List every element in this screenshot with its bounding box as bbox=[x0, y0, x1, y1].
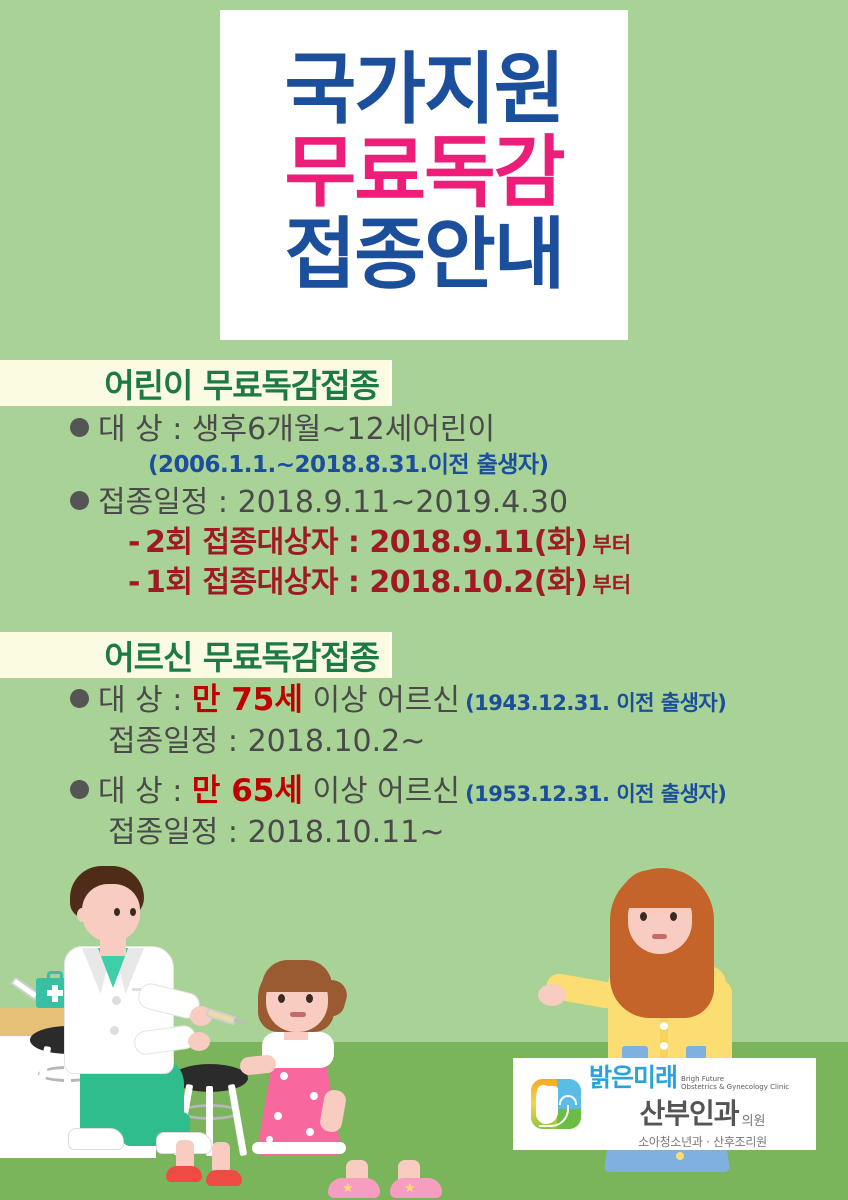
elderly-target-suffix-1: 이상 어르신 bbox=[303, 683, 460, 718]
clinic-name-ko: 밝은미래 bbox=[589, 1058, 677, 1094]
dose-dash-1: - bbox=[128, 525, 140, 560]
shoe-star-icon: ★ bbox=[404, 1182, 416, 1195]
mother-hair-bangs bbox=[620, 870, 702, 908]
dress-dot bbox=[274, 1112, 282, 1120]
bullet-icon bbox=[70, 780, 89, 799]
girl-shoe-left bbox=[166, 1166, 202, 1182]
clinic-logo-row-2: 산부인과 의원 bbox=[589, 1092, 816, 1132]
elderly-age-2: 만 65세 bbox=[192, 773, 303, 809]
elderly-target-prefix-2: 대 상 : bbox=[98, 774, 192, 809]
dose-suffix-2: 부터 bbox=[592, 573, 631, 597]
elderly-schedule-line-2: 접종일정 : 2018.10.11~ bbox=[70, 815, 848, 850]
title-line-3: 접종안내 bbox=[284, 214, 563, 297]
elderly-target-line-2: 대 상 : 만 65세 이상 어르신 (1953.12.31. 이전 출생자) bbox=[70, 773, 848, 810]
title-line-1: 국가지원 bbox=[284, 49, 563, 132]
bullet-icon bbox=[70, 689, 89, 708]
elderly-birth-note-1: (1943.12.31. 이전 출생자) bbox=[465, 691, 726, 715]
mother-mouth bbox=[652, 934, 667, 939]
children-target-label: 대 상 : 생후6개월~12세어린이 bbox=[98, 412, 495, 447]
elderly-target-prefix-1: 대 상 : bbox=[98, 683, 192, 718]
dose-text-2: 1회 접종대상자 : 2018.10.2(화) bbox=[145, 565, 587, 600]
clinic-name-en-line2: Obstetrics & Gynecology Clinic bbox=[681, 1084, 789, 1092]
cardigan-button bbox=[660, 1042, 668, 1050]
children-target-line: 대 상 : 생후6개월~12세어린이 bbox=[70, 412, 848, 447]
girl-eye bbox=[278, 994, 285, 1003]
shoe-star-icon: ★ bbox=[342, 1182, 354, 1195]
section-header-children-label: 어린이 무료독감접종 bbox=[104, 359, 379, 407]
mother-figure: ★ ★ bbox=[290, 860, 530, 1190]
section-header-elderly-label: 어르신 무료독감접종 bbox=[104, 631, 379, 679]
mother-eye bbox=[640, 912, 647, 921]
elderly-target-suffix-2: 이상 어르신 bbox=[303, 774, 460, 809]
title-box: 국가지원 무료독감 접종안내 bbox=[220, 10, 628, 340]
elderly-body: 대 상 : 만 75세 이상 어르신 (1943.12.31. 이전 출생자) … bbox=[0, 682, 848, 850]
doctor-ear bbox=[77, 908, 87, 922]
elderly-age-1: 만 75세 bbox=[192, 682, 303, 718]
clinic-logo-row-1: 밝은미래 Brigh Future Obstetrics & Gynecolog… bbox=[589, 1058, 816, 1094]
mother-eye bbox=[670, 912, 677, 921]
clinic-logo-card[interactable]: 밝은미래 Brigh Future Obstetrics & Gynecolog… bbox=[513, 1058, 816, 1150]
children-dose-line-2: - 1회 접종대상자 : 2018.10.2(화) 부터 bbox=[70, 565, 848, 600]
section-header-elderly: 어르신 무료독감접종 bbox=[0, 632, 392, 678]
children-birth-note: (2006.1.1.~2018.8.31.이전 출생자) bbox=[148, 452, 549, 478]
skirt-dot bbox=[676, 1152, 684, 1160]
clinic-logo-mark-icon bbox=[531, 1079, 581, 1129]
dose-dash-2: - bbox=[128, 565, 140, 600]
children-schedule-line: 접종일정 : 2018.9.11~2019.4.30 bbox=[70, 485, 848, 520]
elderly-schedule-line-1: 접종일정 : 2018.10.2~ bbox=[70, 724, 848, 759]
mother-shoe-left bbox=[328, 1178, 380, 1198]
elderly-schedule-1: 접종일정 : 2018.10.2~ bbox=[108, 724, 425, 759]
clinic-subdepartments: 소아청소년과 · 산후조리원 bbox=[589, 1133, 816, 1150]
clinic-type: 의원 bbox=[742, 1110, 766, 1132]
mother-shoe-right bbox=[390, 1178, 442, 1198]
section-header-children: 어린이 무료독감접종 bbox=[0, 360, 392, 406]
children-schedule-label: 접종일정 : 2018.9.11~2019.4.30 bbox=[98, 485, 568, 520]
cardigan-button bbox=[660, 1022, 668, 1030]
mother-hand-on-girl-head bbox=[538, 984, 566, 1006]
poster-root: 국가지원 무료독감 접종안내 어린이 무료독감접종 대 상 : 생후6개월~12… bbox=[0, 0, 848, 1200]
clinic-logo-text: 밝은미래 Brigh Future Obstetrics & Gynecolog… bbox=[589, 1058, 816, 1150]
dose-suffix-1: 부터 bbox=[592, 533, 631, 557]
children-birth-note-line: (2006.1.1.~2018.8.31.이전 출생자) bbox=[70, 452, 848, 479]
elderly-schedule-2: 접종일정 : 2018.10.11~ bbox=[108, 815, 444, 850]
children-body: 대 상 : 생후6개월~12세어린이 (2006.1.1.~2018.8.31.… bbox=[0, 412, 848, 601]
elderly-birth-note-2: (1953.12.31. 이전 출생자) bbox=[465, 782, 726, 806]
dose-text-1: 2회 접종대상자 : 2018.9.11(화) bbox=[145, 525, 587, 560]
dress-dot bbox=[280, 1072, 288, 1080]
children-dose-line-1: - 2회 접종대상자 : 2018.9.11(화) 부터 bbox=[70, 525, 848, 560]
title-line-2: 무료독감 bbox=[284, 132, 563, 215]
elderly-target-line-1: 대 상 : 만 75세 이상 어르신 (1943.12.31. 이전 출생자) bbox=[70, 682, 848, 719]
girl-shoe-right bbox=[206, 1170, 242, 1186]
clinic-department: 산부인과 bbox=[640, 1092, 739, 1132]
bullet-icon bbox=[70, 418, 89, 437]
bullet-icon bbox=[70, 491, 89, 510]
